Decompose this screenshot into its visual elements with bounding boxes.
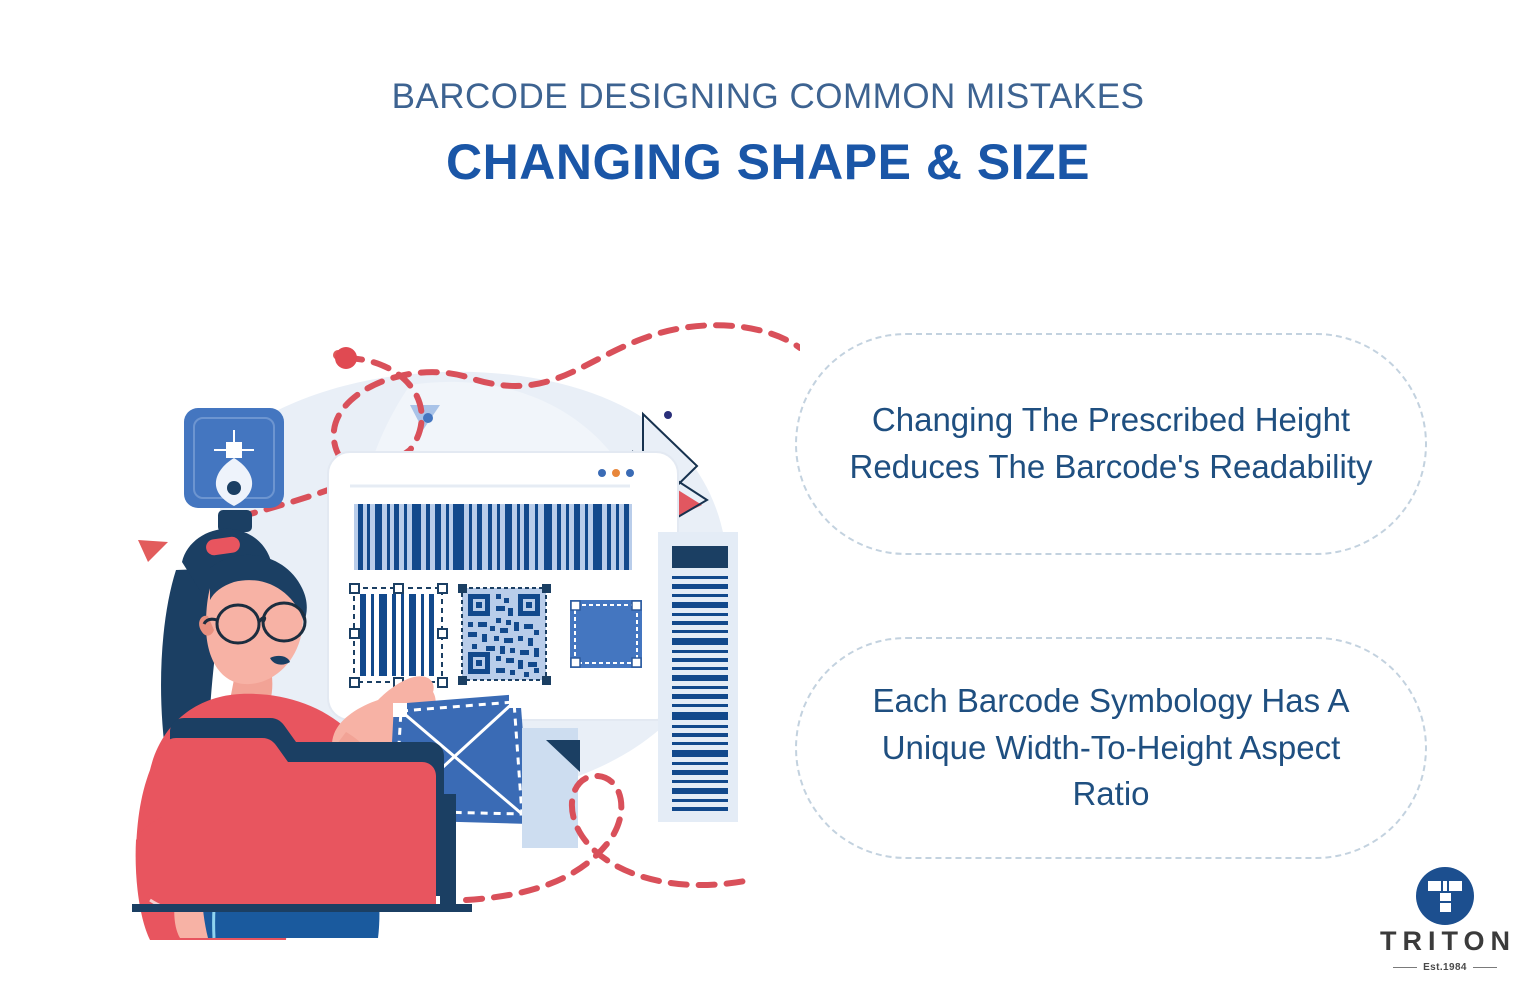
qr-code — [458, 584, 551, 685]
window-dot-blue-2 — [626, 469, 634, 477]
triton-logo: TRITON Est.1984 — [1380, 866, 1510, 978]
red-triangle-decor-small — [138, 540, 168, 562]
header-block: BARCODE DESIGNING COMMON MISTAKES CHANGI… — [0, 78, 1536, 190]
callout-1: Changing The Prescribed Height Reduces T… — [795, 333, 1427, 555]
vertical-stripe-barcode — [658, 532, 738, 822]
infographic-canvas: BARCODE DESIGNING COMMON MISTAKES CHANGI… — [0, 0, 1536, 1005]
red-dot-large — [335, 347, 357, 369]
logo-established-text: Est.1984 — [1423, 962, 1467, 973]
triton-t-monogram-icon — [1415, 866, 1475, 926]
logo-rule-left — [1393, 967, 1417, 968]
page-title: CHANGING SHAPE & SIZE — [0, 135, 1536, 190]
blue-selection-square — [570, 600, 642, 668]
callout-2: Each Barcode Symbology Has A Unique Widt… — [795, 637, 1427, 859]
browser-window-with-barcodes — [328, 452, 678, 720]
logo-rule-right — [1473, 967, 1497, 968]
linear-barcode — [354, 504, 632, 570]
floor-line — [132, 904, 472, 912]
dot-decor-2 — [423, 413, 433, 423]
logo-wordmark: TRITON — [1380, 928, 1510, 955]
callout-1-text: Changing The Prescribed Height Reduces T… — [797, 397, 1425, 491]
window-dot-orange — [612, 469, 620, 477]
designer-illustration — [110, 300, 800, 940]
eyebrow-text: BARCODE DESIGNING COMMON MISTAKES — [0, 78, 1536, 117]
callout-2-text: Each Barcode Symbology Has A Unique Widt… — [797, 678, 1425, 819]
logo-established-row: Est.1984 — [1380, 962, 1510, 973]
dot-decor-4 — [664, 411, 672, 419]
window-dot-blue — [598, 469, 606, 477]
